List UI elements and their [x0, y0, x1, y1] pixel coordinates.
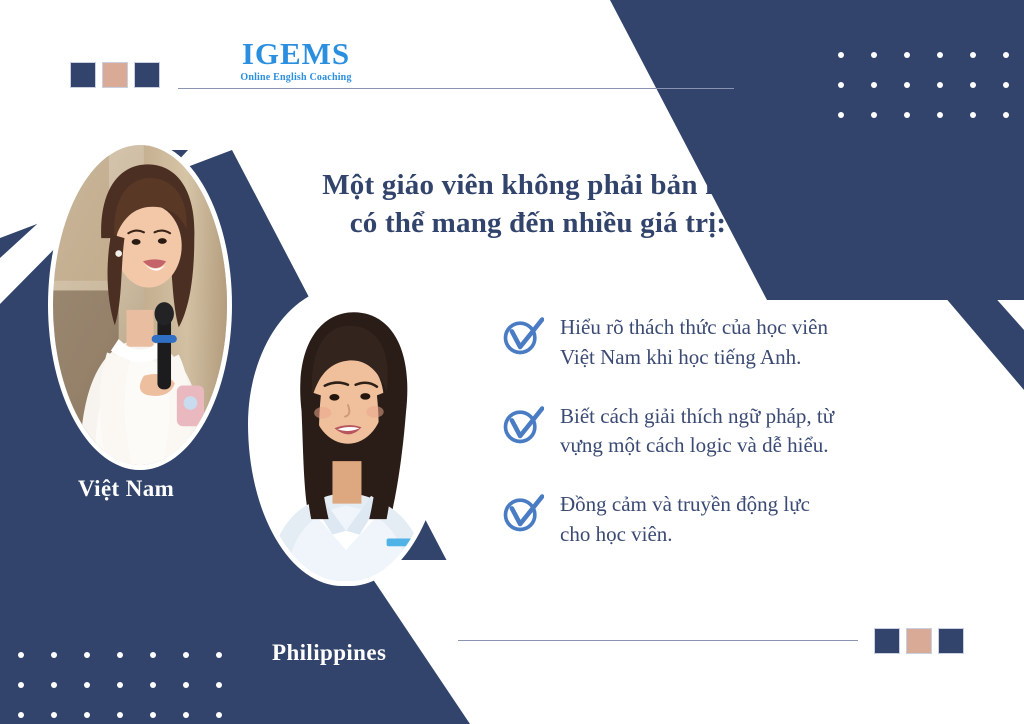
benefits-list: Hiểu rõ thách thức của học viên Việt Nam… — [500, 312, 970, 550]
list-item-text: Hiểu rõ thách thức của học viên Việt Nam… — [560, 312, 828, 373]
list-item: Hiểu rõ thách thức của học viên Việt Nam… — [500, 312, 970, 373]
footer-divider-line — [458, 640, 858, 641]
bullet-1-line-2: Việt Nam khi học tiếng Anh. — [560, 345, 801, 369]
bullet-1-line-1: Hiểu rõ thách thức của học viên — [560, 315, 828, 339]
list-item: Biết cách giải thích ngữ pháp, từ vựng m… — [500, 401, 970, 462]
headline-line-1: Một giáo viên không phải bản ngữ — [258, 166, 818, 204]
bullet-3-line-1: Đồng cảm và truyền động lực — [560, 492, 810, 516]
list-item-text: Biết cách giải thích ngữ pháp, từ vựng m… — [560, 401, 834, 462]
logo-wordmark: IGEMS — [186, 38, 406, 69]
caption-philippines: Philippines — [272, 640, 386, 666]
accent-square-navy-1 — [70, 62, 96, 88]
check-circle-icon — [500, 314, 544, 358]
top-right-navy-wedge — [610, 0, 1024, 300]
header-divider-line — [178, 88, 734, 89]
accent-square-navy-4 — [938, 628, 964, 654]
teacher-philippines-photo — [248, 286, 444, 586]
bullet-2-line-2: vựng một cách logic và dễ hiểu. — [560, 433, 829, 457]
brand-logo: IGEMS Online English Coaching — [186, 38, 406, 83]
headline-line-2: có thể mang đến nhiều giá trị: — [258, 204, 818, 242]
accent-square-peach-1 — [102, 62, 128, 88]
check-circle-icon — [500, 491, 544, 535]
list-item-text: Đồng cảm và truyền động lực cho học viên… — [560, 489, 810, 550]
page-title: Một giáo viên không phải bản ngữ có thể … — [258, 166, 818, 243]
accent-square-navy-2 — [134, 62, 160, 88]
check-circle-icon — [500, 403, 544, 447]
bullet-3-line-2: cho học viên. — [560, 522, 673, 546]
bottom-right-square-accents — [874, 628, 964, 654]
caption-vietnam: Việt Nam — [78, 476, 174, 502]
bullet-2-line-1: Biết cách giải thích ngữ pháp, từ — [560, 404, 834, 428]
top-right-dot-grid — [838, 52, 1024, 118]
teacher-vietnam-photo — [48, 140, 232, 470]
accent-square-peach-2 — [906, 628, 932, 654]
accent-square-navy-3 — [874, 628, 900, 654]
poster-canvas: IGEMS Online English Coaching Một giáo v… — [0, 0, 1024, 724]
top-left-square-accents — [70, 62, 160, 88]
list-item: Đồng cảm và truyền động lực cho học viên… — [500, 489, 970, 550]
logo-tagline: Online English Coaching — [186, 72, 406, 83]
bottom-left-dot-grid — [18, 652, 222, 718]
